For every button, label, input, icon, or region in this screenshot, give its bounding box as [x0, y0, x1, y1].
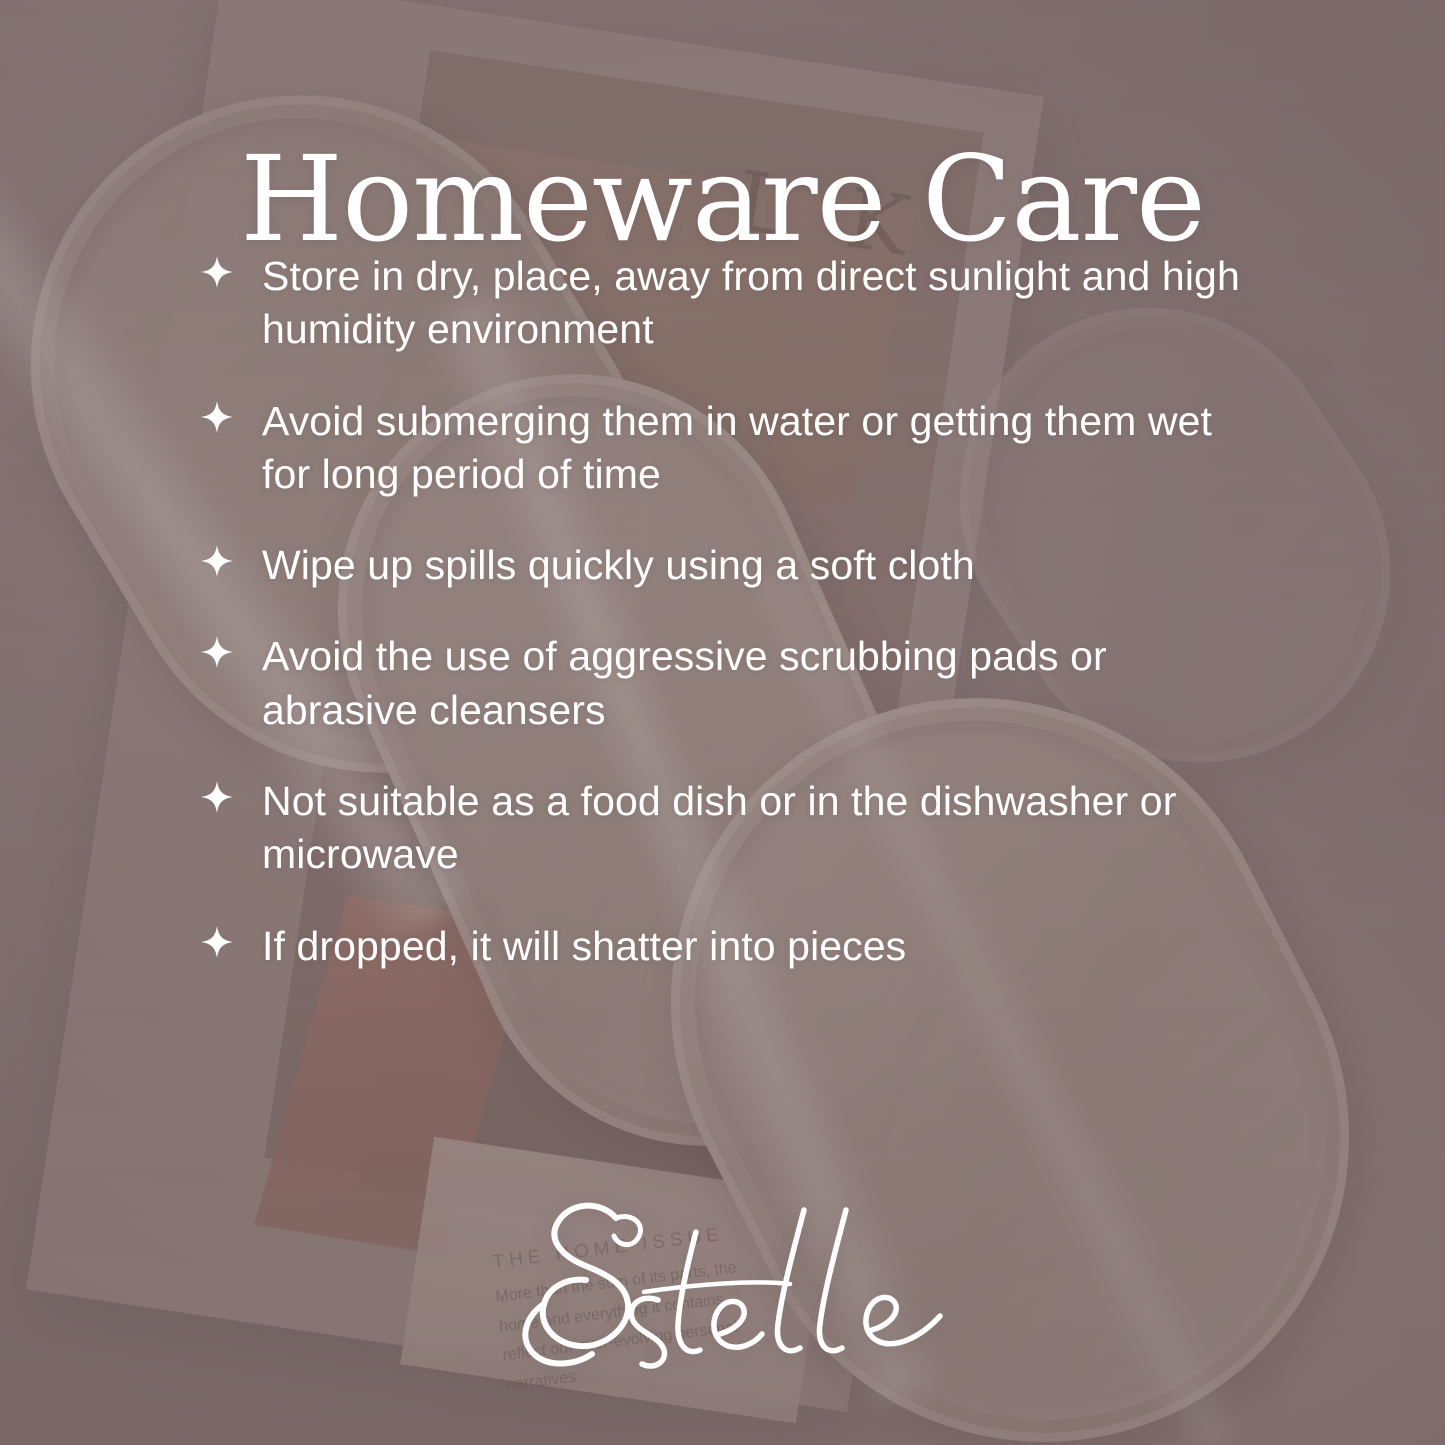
list-item-label: Store in dry, place, away from direct su… — [262, 250, 1270, 357]
list-item-label: Wipe up spills quickly using a soft clot… — [262, 539, 975, 592]
care-instructions-list: Store in dry, place, away from direct su… — [200, 250, 1270, 1011]
list-item: If dropped, it will shatter into pieces — [200, 920, 1270, 973]
brand-signature-logo: Estelle — [0, 1188, 1445, 1383]
brand-signature-text: Estelle — [722, 1382, 723, 1383]
page-title: Homeware Care — [0, 137, 1445, 262]
list-item: Avoid submerging them in water or gettin… — [200, 395, 1270, 502]
list-item: Store in dry, place, away from direct su… — [200, 250, 1270, 357]
list-item: Avoid the use of aggressive scrubbing pa… — [200, 630, 1270, 737]
sparkle-icon — [200, 920, 234, 966]
homeware-care-card: L K THE HOME ISSUE More than the sum of … — [0, 0, 1445, 1445]
list-item: Wipe up spills quickly using a soft clot… — [200, 539, 1270, 592]
sparkle-icon — [200, 630, 234, 676]
list-item-label: If dropped, it will shatter into pieces — [262, 920, 906, 973]
list-item-label: Avoid the use of aggressive scrubbing pa… — [262, 630, 1270, 737]
sparkle-icon — [200, 395, 234, 441]
list-item-label: Not suitable as a food dish or in the di… — [262, 775, 1270, 882]
sparkle-icon — [200, 775, 234, 821]
card-content: Homeware Care Store in dry, place, away … — [0, 0, 1445, 1445]
sparkle-icon — [200, 250, 234, 296]
list-item-label: Avoid submerging them in water or gettin… — [262, 395, 1270, 502]
sparkle-icon — [200, 539, 234, 585]
list-item: Not suitable as a food dish or in the di… — [200, 775, 1270, 882]
